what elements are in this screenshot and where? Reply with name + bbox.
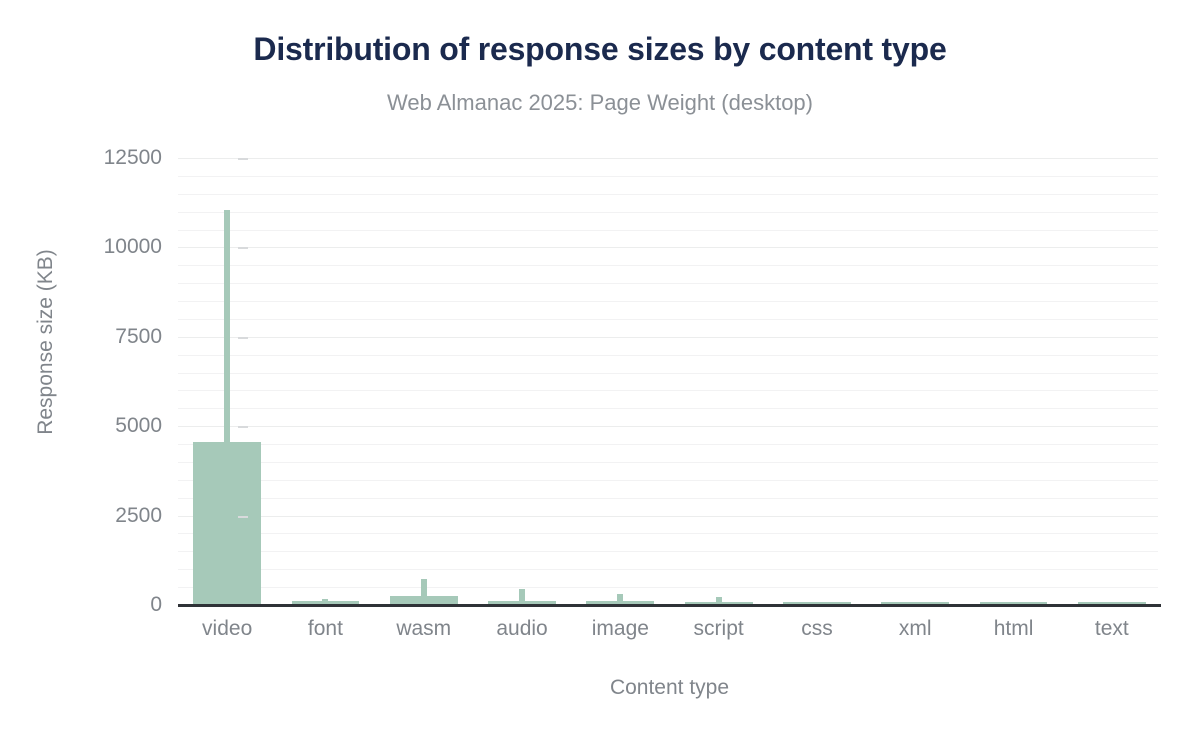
- y-axis-tick-mark: [238, 516, 248, 518]
- y-axis-ticks: 02500500075001000012500: [70, 0, 162, 742]
- gridline-minor: [178, 408, 1158, 409]
- gridline-minor: [178, 355, 1158, 356]
- y-axis-tick-label: 2500: [72, 504, 162, 528]
- gridline-minor: [178, 301, 1158, 302]
- plot-area: [178, 160, 1158, 605]
- x-axis-title-label: Content type: [178, 676, 1161, 700]
- gridline-minor: [178, 230, 1158, 231]
- y-axis-tick-label: 7500: [72, 325, 162, 349]
- gridline-minor: [178, 498, 1158, 499]
- x-axis-tick-label: video: [202, 617, 252, 641]
- gridline-minor: [178, 212, 1158, 213]
- gridline-minor: [178, 390, 1158, 391]
- gridline-minor: [178, 373, 1158, 374]
- gridline-major: [178, 247, 1158, 248]
- chart-figure: Distribution of response sizes by conten…: [0, 0, 1200, 742]
- y-axis-tick-label: 5000: [72, 414, 162, 438]
- x-axis-tick-label: html: [994, 617, 1034, 641]
- y-axis-tick-mark: [238, 426, 248, 428]
- y-axis-title: Response size (KB): [16, 0, 56, 742]
- gridline-major: [178, 158, 1158, 159]
- gridline-minor: [178, 319, 1158, 320]
- y-axis-tick-label: 12500: [72, 146, 162, 170]
- gridline-minor: [178, 444, 1158, 445]
- gridline-minor: [178, 551, 1158, 552]
- x-axis-tick-label: xml: [899, 617, 932, 641]
- gridline-minor: [178, 283, 1158, 284]
- y-axis-tick-mark: [238, 247, 248, 249]
- bar-video[interactable]: [193, 442, 261, 605]
- x-axis-tick-label: script: [694, 617, 744, 641]
- gridline-major: [178, 337, 1158, 338]
- y-axis-tick-label: 10000: [72, 235, 162, 259]
- x-axis-tick-label: image: [592, 617, 649, 641]
- gridline-major: [178, 426, 1158, 427]
- gridline-minor: [178, 265, 1158, 266]
- x-axis-tick-label: css: [801, 617, 833, 641]
- chart-title: Distribution of response sizes by conten…: [0, 32, 1200, 67]
- y-axis-title-label: Response size (KB): [34, 192, 58, 492]
- x-axis-tick-label: wasm: [396, 617, 451, 641]
- y-axis-tick-mark: [238, 158, 248, 160]
- gridline-minor: [178, 587, 1158, 588]
- x-axis-line: [178, 604, 1161, 607]
- y-axis-tick-mark: [238, 337, 248, 339]
- gridline-minor: [178, 569, 1158, 570]
- gridline-minor: [178, 462, 1158, 463]
- x-axis-tick-label: audio: [496, 617, 547, 641]
- gridline-major: [178, 516, 1158, 517]
- gridline-minor: [178, 194, 1158, 195]
- x-axis-tick-label: text: [1095, 617, 1129, 641]
- y-axis-tick-label: 0: [72, 593, 162, 617]
- x-axis-tick-label: font: [308, 617, 343, 641]
- gridline-minor: [178, 176, 1158, 177]
- gridline-minor: [178, 533, 1158, 534]
- gridline-minor: [178, 480, 1158, 481]
- chart-subtitle: Web Almanac 2025: Page Weight (desktop): [0, 90, 1200, 116]
